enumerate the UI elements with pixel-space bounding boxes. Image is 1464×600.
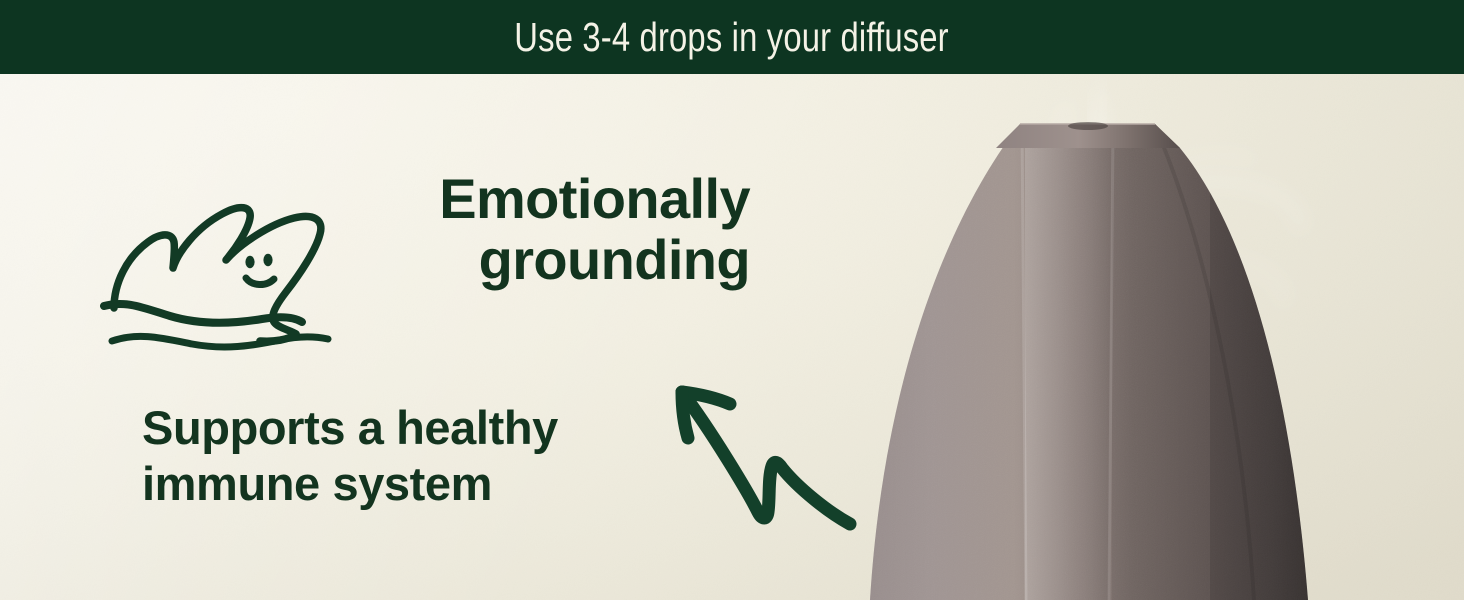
- promotional-banner: Use 3-4 drops in your diffuser: [0, 0, 1464, 600]
- hand-drawn-arrow-icon: [668, 376, 860, 532]
- benefit-headline: Emotionally grounding: [330, 168, 750, 290]
- benefit-subheadline-line1: Supports a healthy: [142, 400, 662, 456]
- vapor-plume: [850, 74, 1464, 404]
- diffuser-product-photo: [850, 74, 1464, 600]
- benefit-subheadline-line2: immune system: [142, 456, 662, 512]
- benefit-subheadline: Supports a healthy immune system: [142, 400, 662, 513]
- benefit-headline-line1: Emotionally: [330, 168, 750, 229]
- banner-stage: Emotionally grounding Supports a healthy…: [0, 74, 1464, 600]
- diffuser-body: [850, 74, 1464, 600]
- benefit-headline-line2: grounding: [330, 229, 750, 290]
- instruction-text: Use 3-4 drops in your diffuser: [515, 17, 949, 58]
- instruction-strip: Use 3-4 drops in your diffuser: [0, 0, 1464, 74]
- floating-figure-icon: [100, 178, 355, 356]
